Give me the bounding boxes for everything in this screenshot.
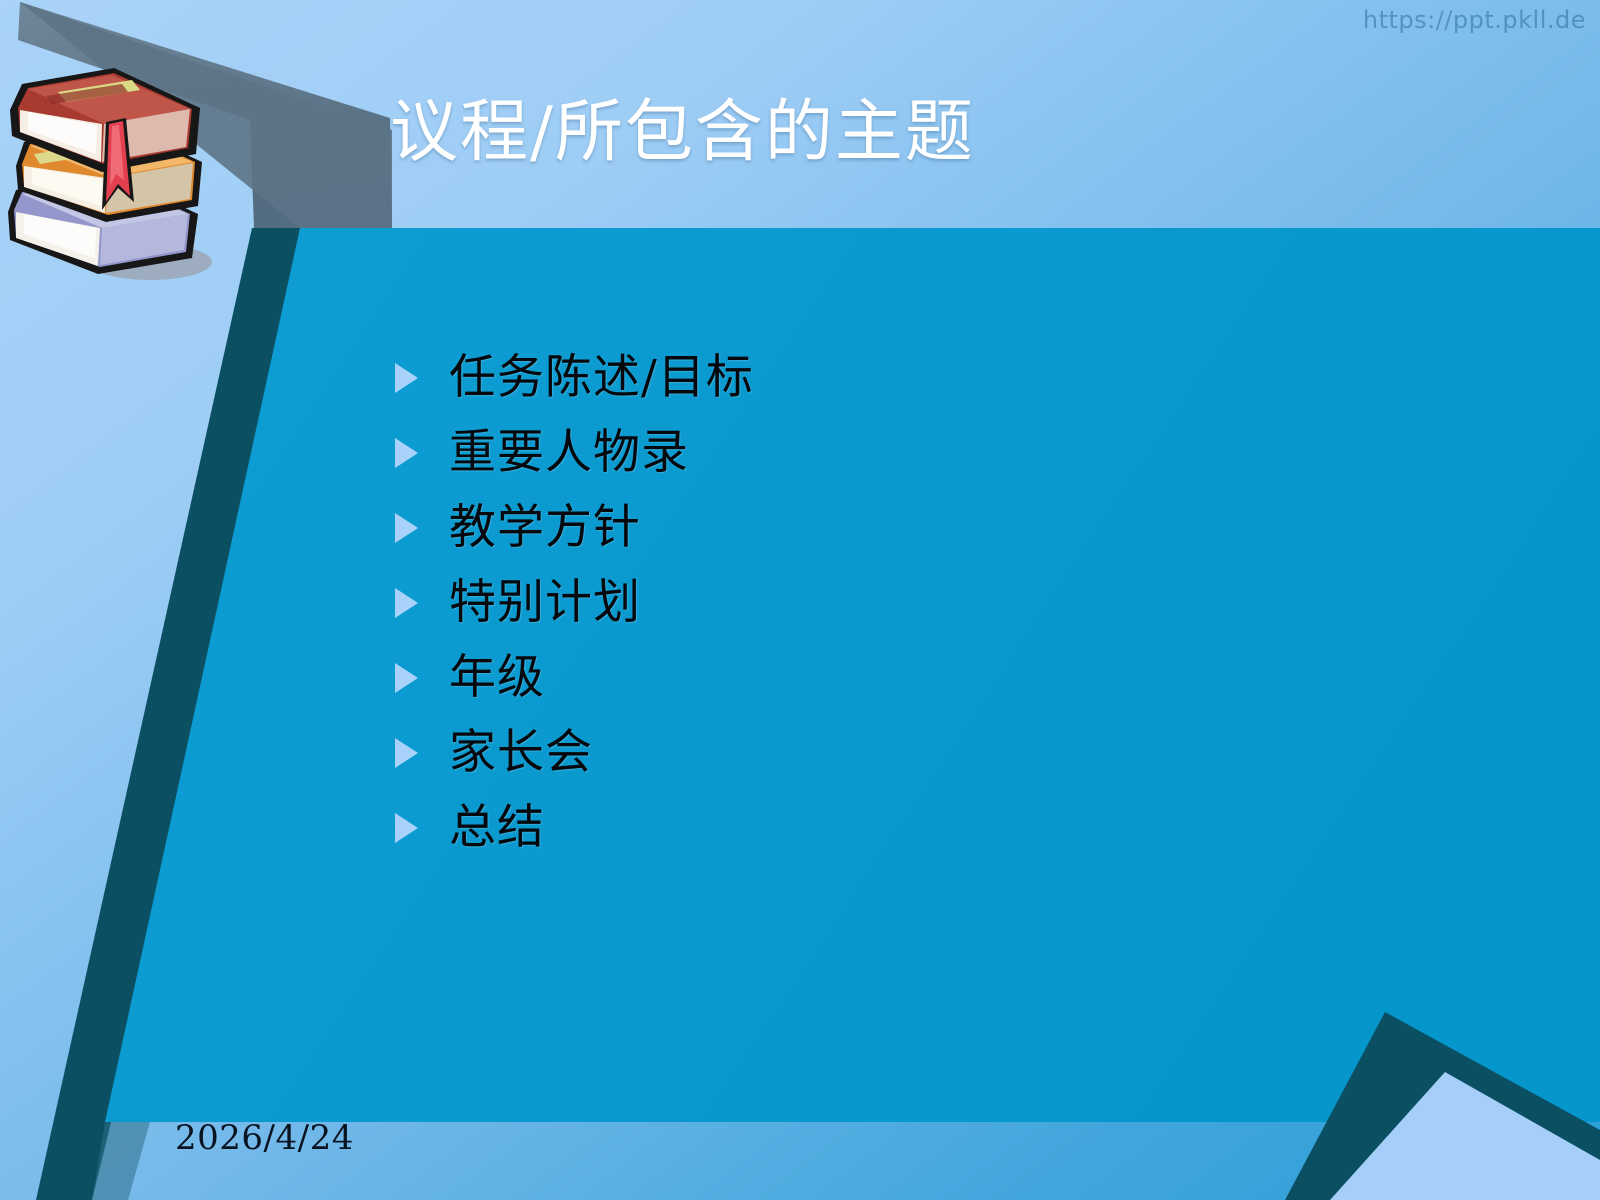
triangle-right-bullet-icon xyxy=(395,363,419,393)
presentation-slide: https://ppt.pkll.de 议程/所包含的主题 任务陈述/目标 重要… xyxy=(0,0,1600,1200)
list-item[interactable]: 教学方针 xyxy=(395,490,1395,565)
slide-title: 议程/所包含的主题 xyxy=(390,97,975,168)
list-item[interactable]: 特别计划 xyxy=(395,565,1395,640)
triangle-right-bullet-icon xyxy=(395,438,419,468)
agenda-bullet-list: 任务陈述/目标 重要人物录 教学方针 特别计划 年级 家长会 总结 xyxy=(395,340,1395,865)
list-item-label: 特别计划 xyxy=(449,579,641,626)
list-item[interactable]: 年级 xyxy=(395,640,1395,715)
list-item[interactable]: 总结 xyxy=(395,790,1395,865)
list-item[interactable]: 重要人物录 xyxy=(395,415,1395,490)
stack-of-books-icon xyxy=(8,68,202,274)
list-item-label: 重要人物录 xyxy=(449,429,689,476)
triangle-right-bullet-icon xyxy=(395,513,419,543)
list-item[interactable]: 任务陈述/目标 xyxy=(395,340,1395,415)
slide-title-container: 议程/所包含的主题 xyxy=(390,78,1570,188)
triangle-right-bullet-icon xyxy=(395,663,419,693)
list-item[interactable]: 家长会 xyxy=(395,715,1395,790)
slide-date: 2026/4/24 xyxy=(175,1118,354,1158)
triangle-right-bullet-icon xyxy=(395,738,419,768)
list-item-label: 教学方针 xyxy=(449,504,641,551)
triangle-right-bullet-icon xyxy=(395,588,419,618)
list-item-label: 任务陈述/目标 xyxy=(449,354,754,401)
triangle-right-bullet-icon xyxy=(395,813,419,843)
list-item-label: 年级 xyxy=(449,654,545,701)
list-item-label: 总结 xyxy=(449,804,545,851)
watermark-url: https://ppt.pkll.de xyxy=(1363,6,1586,34)
list-item-label: 家长会 xyxy=(449,729,593,776)
